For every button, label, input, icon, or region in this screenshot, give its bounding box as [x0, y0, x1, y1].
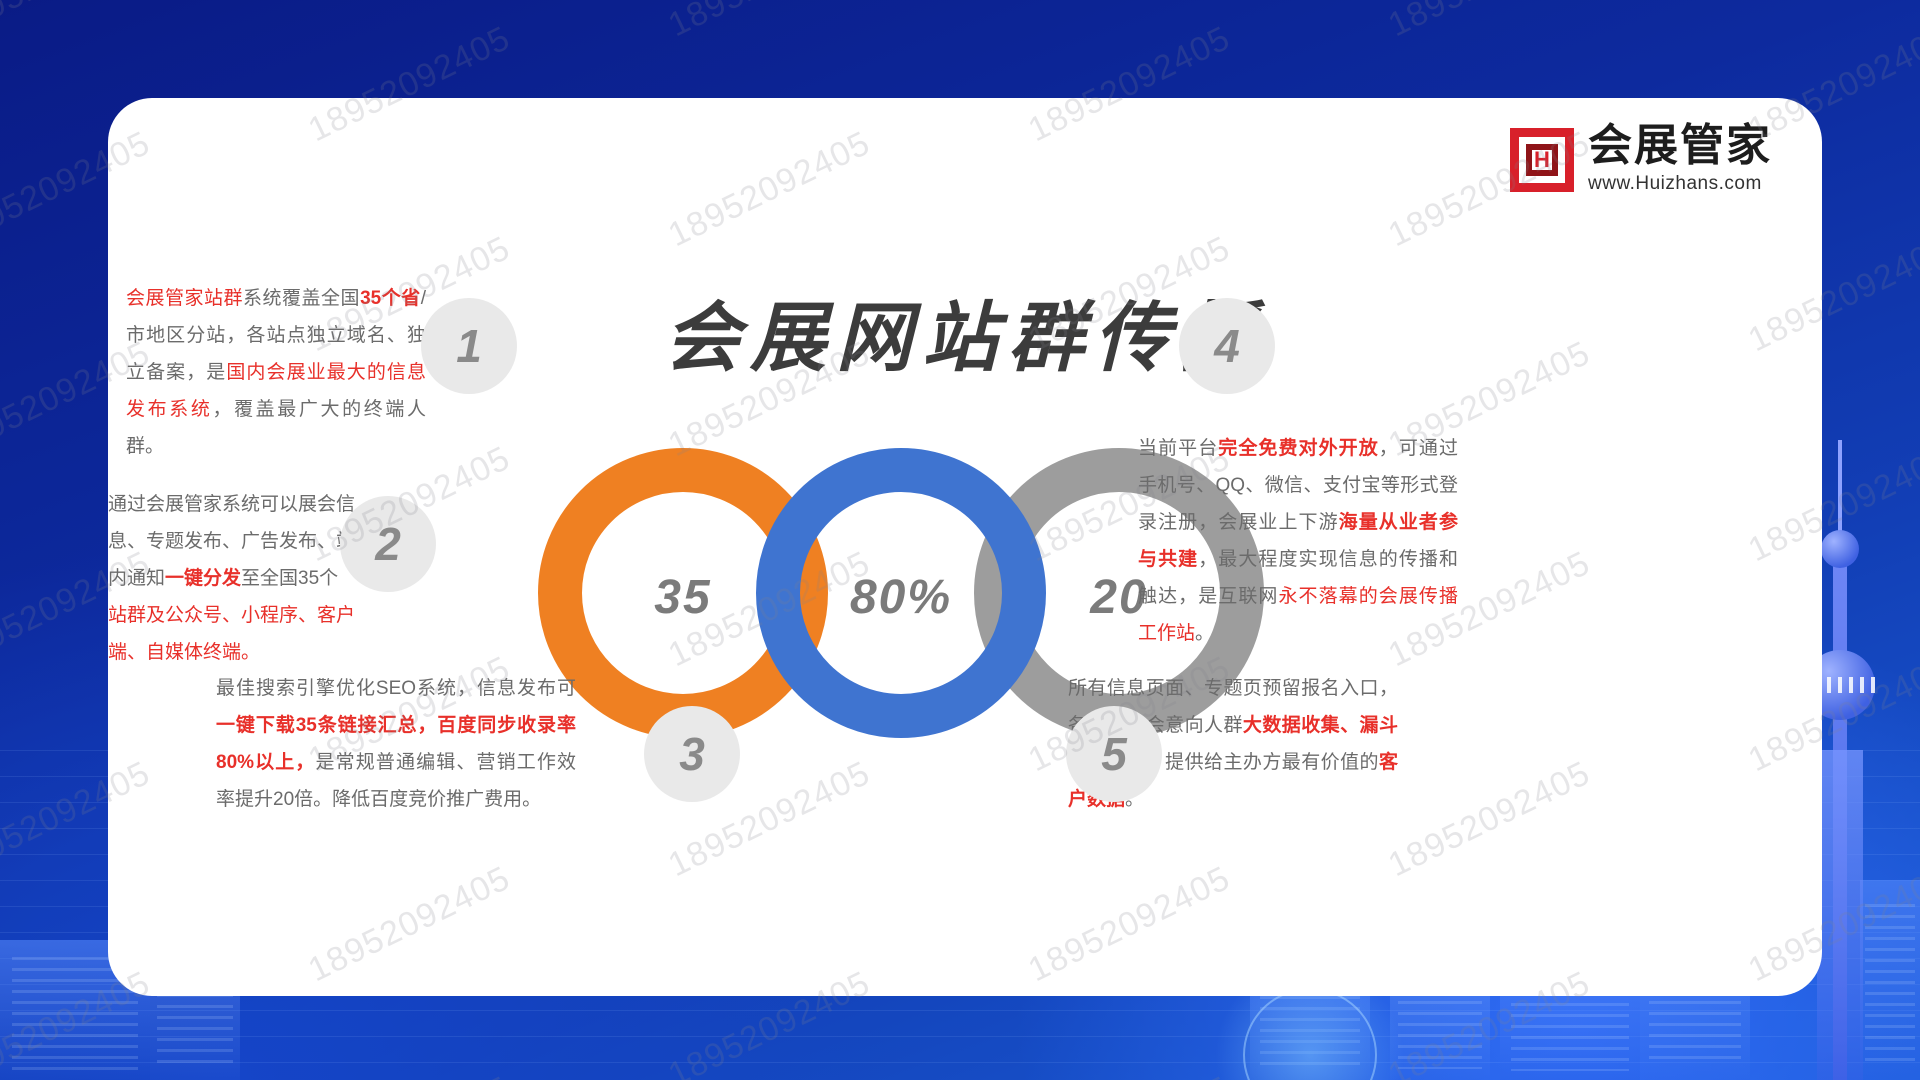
t4-seg2: 完全免费对外开放 — [1218, 438, 1379, 459]
text-block-2: 通过会展管家系统可以展会信息、专题发布、广告发布、站内通知一键分发至全国35个站… — [108, 486, 356, 671]
t1-seg2: 系统覆盖全国 — [243, 288, 360, 309]
text-block-3: 最佳搜索引擎优化SEO系统，信息发布可一键下载35条链接汇总，百度同步收录率80… — [216, 670, 576, 818]
badge-4: 4 — [1179, 298, 1275, 394]
t2-seg2: 一键分发 — [165, 568, 241, 589]
t2-seg3: 至全国35个 — [241, 568, 338, 589]
t1-seg3: 35个省 — [360, 288, 421, 309]
badge-5: 5 — [1066, 706, 1162, 802]
text-block-1: 会展管家站群系统覆盖全国35个省/市地区分站，各站点独立域名、独立备案，是国内会… — [126, 280, 426, 465]
logo-url: www.Huizhans.com — [1588, 173, 1772, 195]
t2-seg4: 站群及公众号、小程序、客户端、自媒体终端。 — [108, 605, 355, 663]
badge-2: 2 — [340, 496, 436, 592]
t1-seg1: 会展管家站群 — [126, 288, 243, 309]
logo-name: 会展管家 — [1588, 124, 1772, 168]
logo-letter: H — [1534, 147, 1550, 173]
text-block-4: 当前平台完全免费对外开放，可通过手机号、QQ、微信、支付宝等形式登录注册，会展业… — [1138, 430, 1458, 652]
t4-seg1: 当前平台 — [1138, 438, 1218, 459]
t4-seg7: 。 — [1195, 623, 1214, 644]
content-card: H 会展管家 www.Huizhans.com 会展网站群传播 35 80% 2… — [108, 98, 1822, 996]
t3-seg1: 最佳搜索引擎优化SEO系统，信息发布可 — [216, 678, 576, 699]
t5-seg3: ，提供给主办方最有价值的 — [1146, 752, 1379, 773]
logo-mark-icon: H — [1510, 128, 1574, 192]
badge-1: 1 — [421, 298, 517, 394]
badge-3: 3 — [644, 706, 740, 802]
brand-logo[interactable]: H 会展管家 www.Huizhans.com — [1510, 124, 1772, 195]
